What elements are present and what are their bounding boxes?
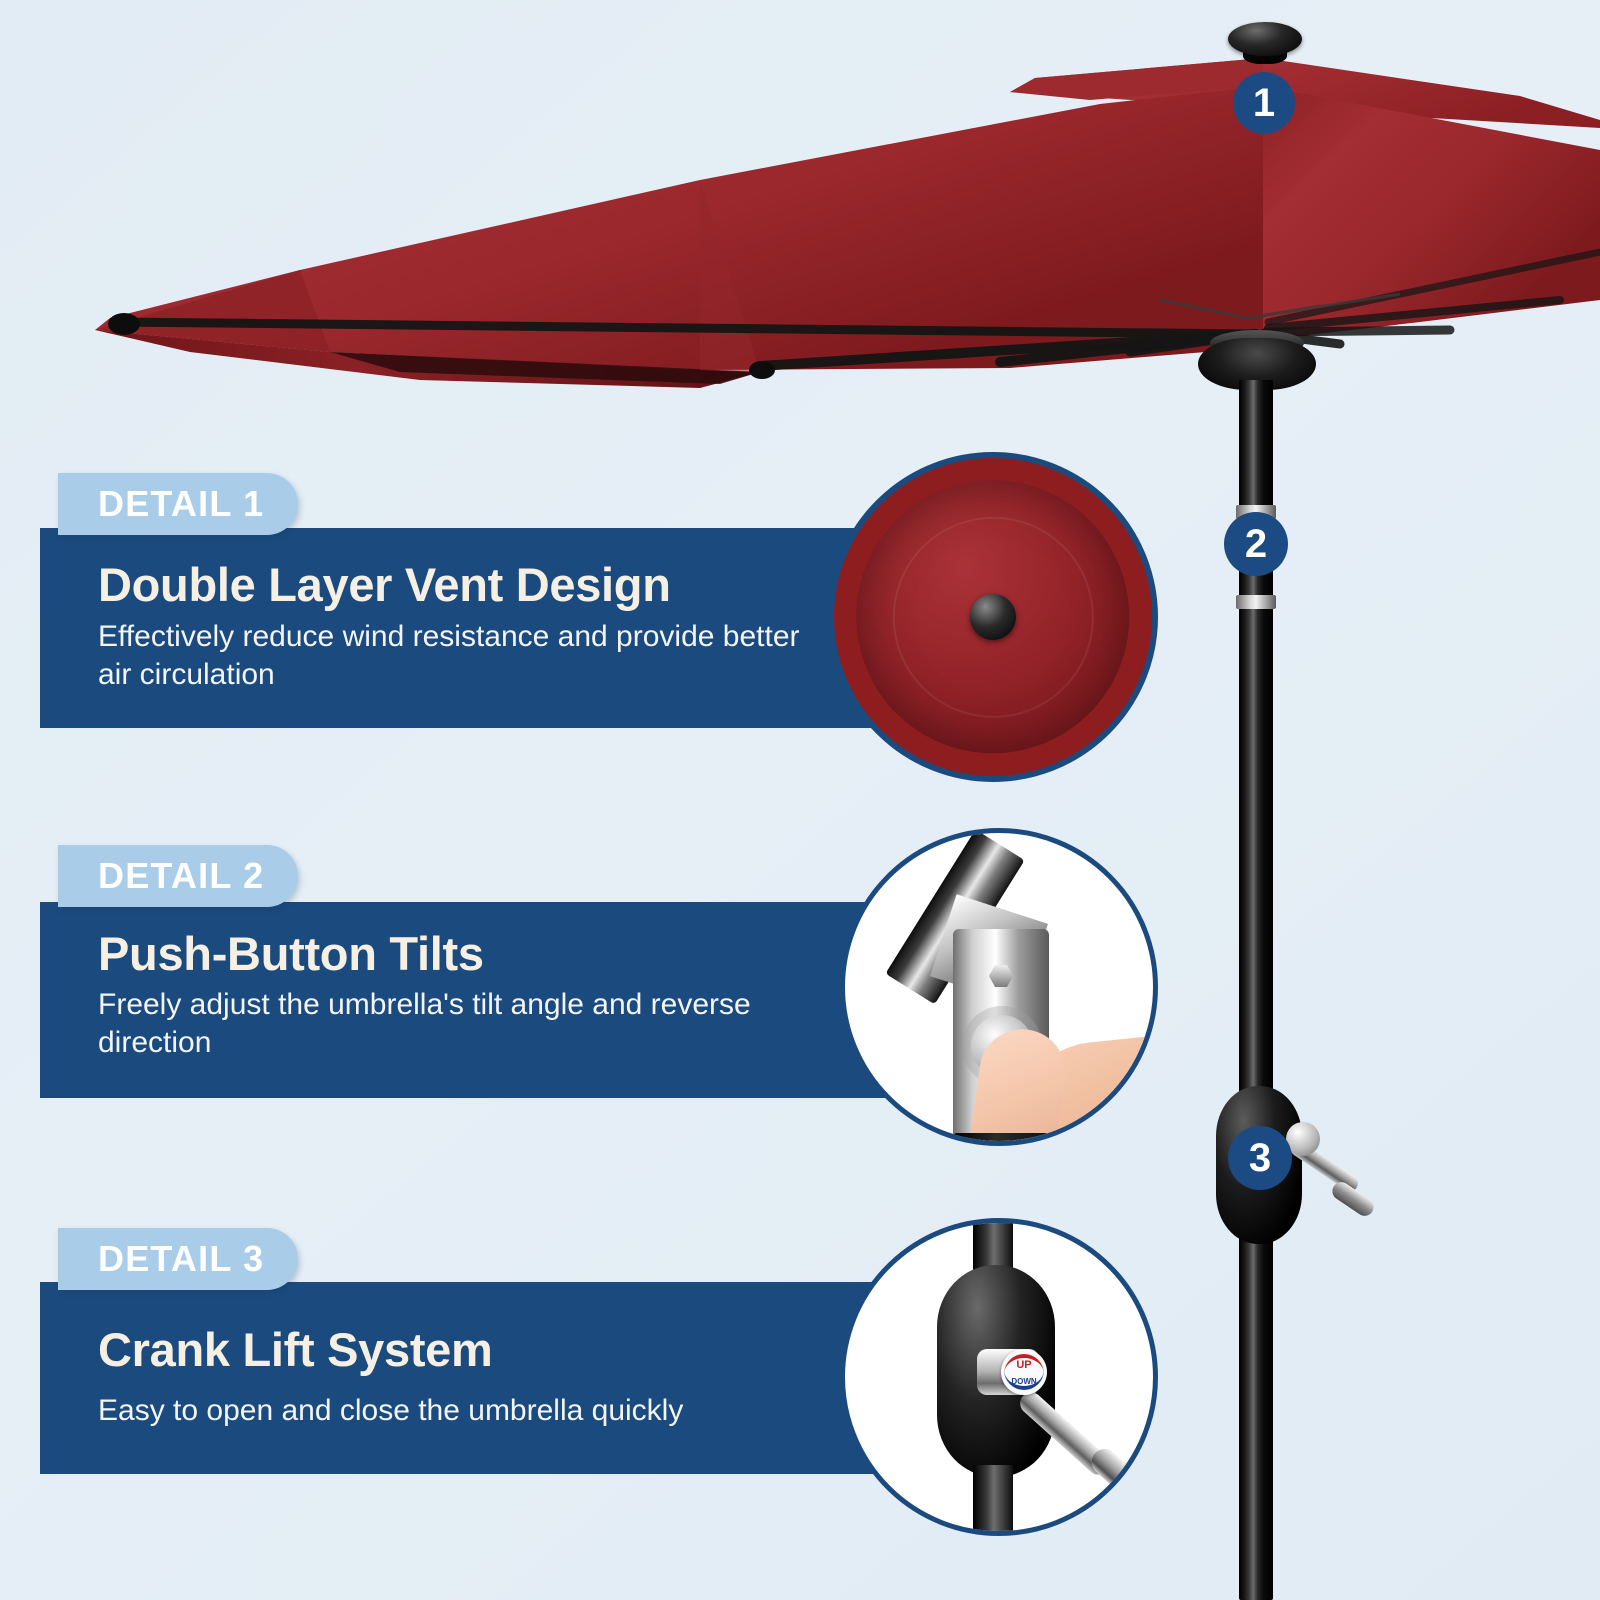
umbrella-canopy bbox=[0, 0, 1600, 430]
vent-finial-knob bbox=[970, 594, 1016, 640]
detail-bar-3 bbox=[40, 1282, 885, 1474]
detail-tab-2: DETAIL 2 bbox=[58, 845, 298, 907]
tilt-base bbox=[953, 1133, 1049, 1146]
detail-title-1: Double Layer Vent Design bbox=[98, 557, 671, 612]
detail-title-3: Crank Lift System bbox=[98, 1322, 493, 1377]
finial-stem bbox=[1243, 44, 1287, 64]
canopy-hub bbox=[1198, 338, 1316, 390]
detail-description-2: Freely adjust the umbrella's tilt angle … bbox=[98, 986, 828, 1063]
finial-cap bbox=[1228, 22, 1302, 56]
up-down-label-sticker: UP DOWN bbox=[1001, 1349, 1047, 1395]
detail-description-3: Easy to open and close the umbrella quic… bbox=[98, 1392, 828, 1430]
pole-joint-lower bbox=[1236, 595, 1276, 609]
detail-tab-3: DETAIL 3 bbox=[58, 1228, 298, 1290]
crank-pole-lower bbox=[973, 1465, 1013, 1536]
inset-crank-lift: UP DOWN bbox=[840, 1218, 1158, 1536]
callout-badge-3: 3 bbox=[1228, 1126, 1292, 1190]
callout-badge-2: 2 bbox=[1224, 512, 1288, 576]
canopy-hub-top bbox=[1210, 330, 1304, 356]
detail-description-1: Effectively reduce wind resistance and p… bbox=[98, 618, 828, 695]
down-arc-icon bbox=[1004, 1366, 1044, 1390]
detail-title-2: Push-Button Tilts bbox=[98, 926, 484, 981]
crank-arm bbox=[1288, 1137, 1362, 1194]
product-infographic: 1 2 3 DETAIL 1 Double Layer Vent Design … bbox=[0, 0, 1600, 1600]
callout-badge-1: 1 bbox=[1233, 72, 1295, 134]
inset-canopy-top-view bbox=[828, 452, 1158, 782]
crank-grip bbox=[1329, 1179, 1377, 1220]
inset-tilt-mechanism bbox=[840, 828, 1158, 1146]
detail-tab-1: DETAIL 1 bbox=[58, 473, 298, 535]
